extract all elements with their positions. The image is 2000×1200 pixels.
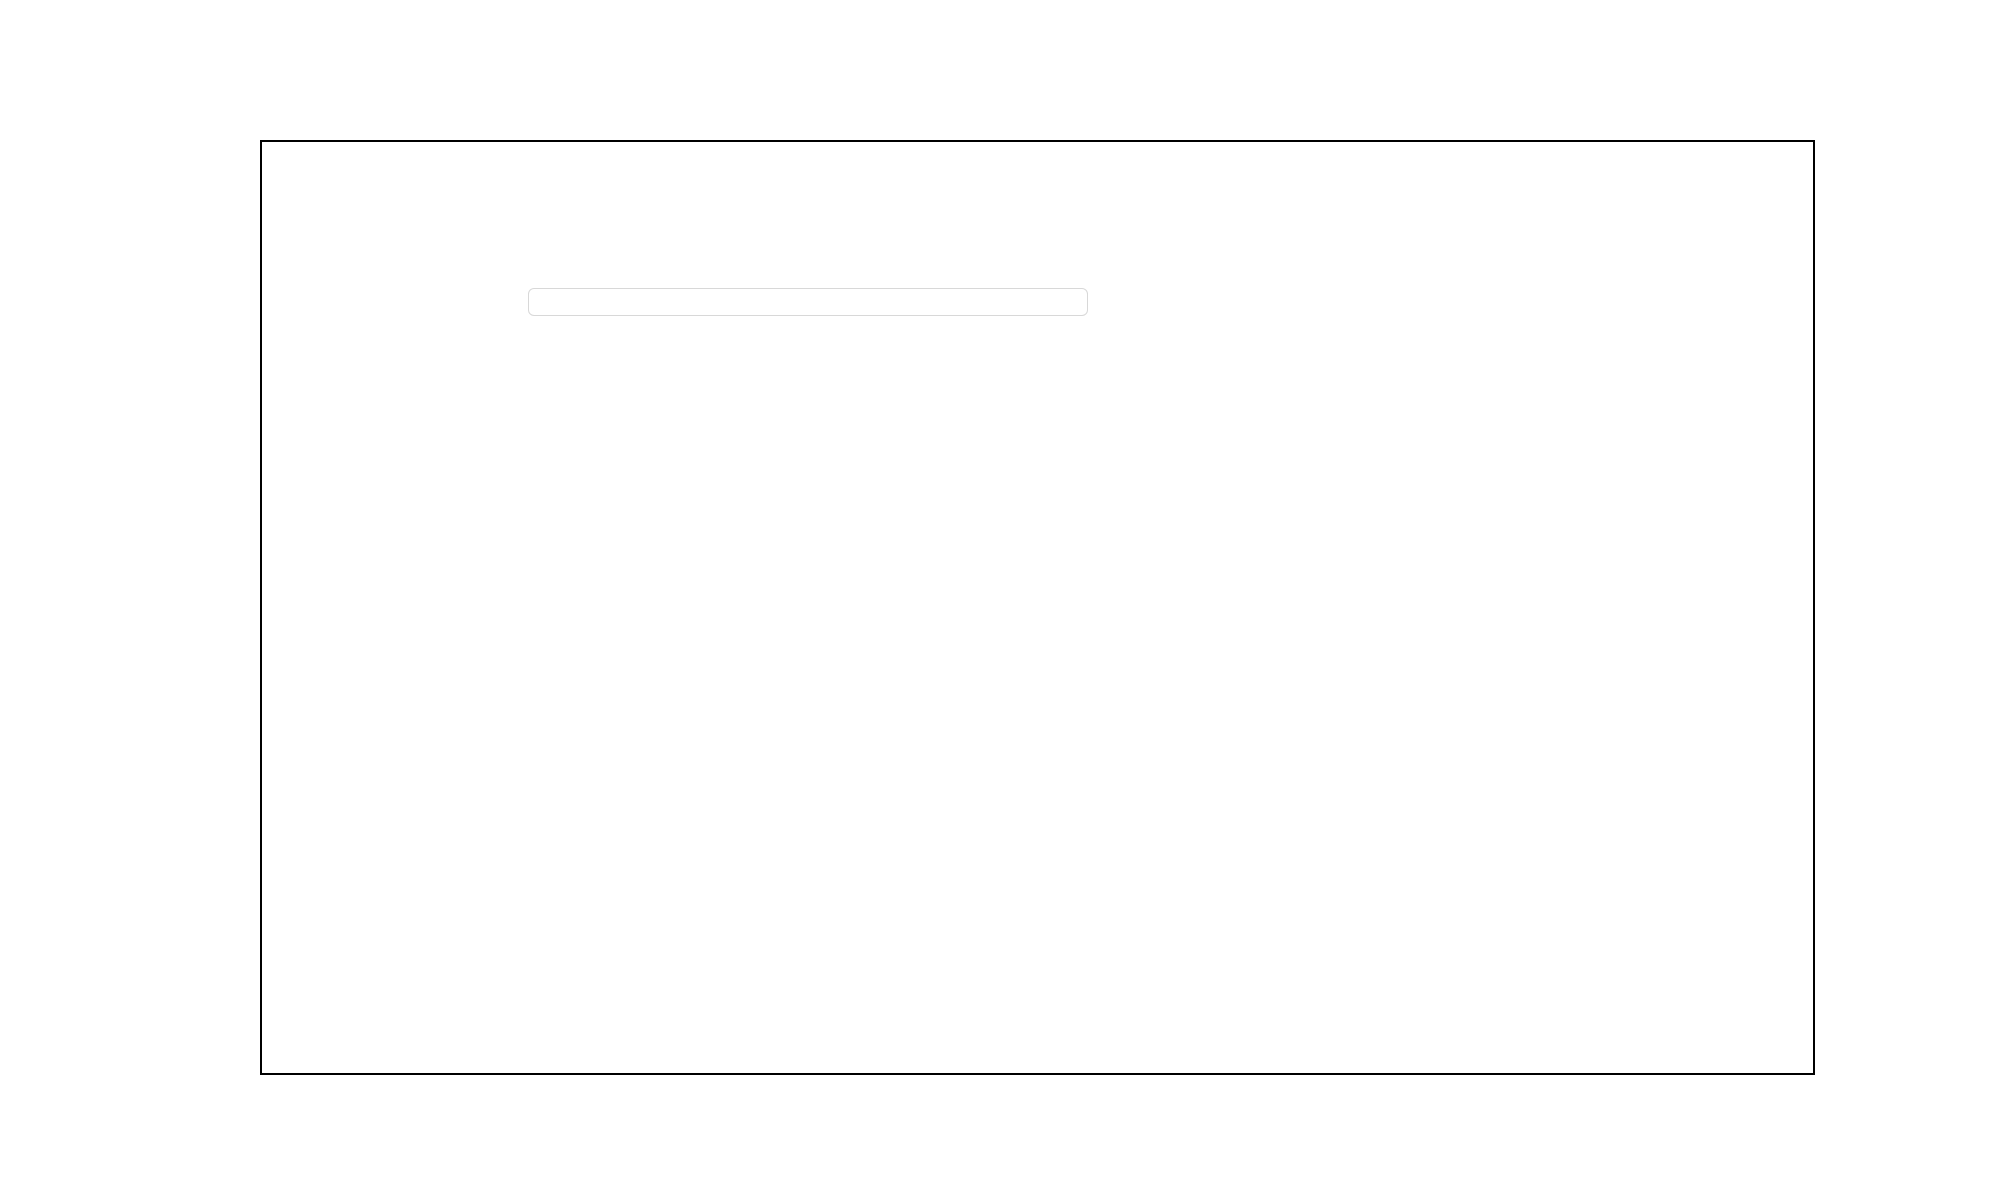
figure — [0, 0, 2000, 1200]
x-tick-marks — [260, 1075, 1815, 1155]
plot-area — [260, 140, 1815, 1075]
chart-data-layer — [262, 142, 1813, 1073]
legend[interactable] — [528, 288, 1088, 316]
